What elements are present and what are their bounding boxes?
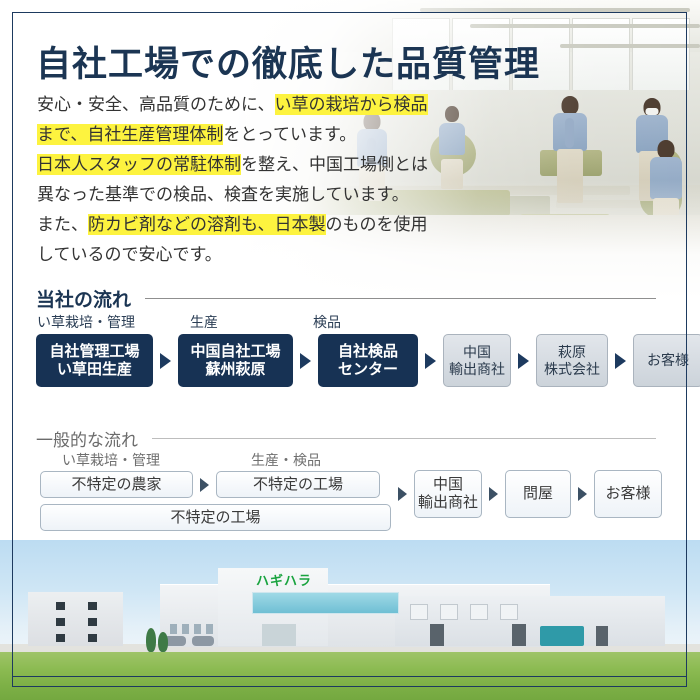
text-segment: しているので安心です。 bbox=[37, 245, 222, 264]
company-flow-heading: 当社の流れ bbox=[36, 285, 656, 312]
highlighted-text: まで、自社生産管理体制 bbox=[37, 124, 223, 145]
step-line: 輸出商社 bbox=[449, 361, 505, 378]
step-line: お客様 bbox=[605, 485, 650, 503]
step-line: 中国自社工場 bbox=[190, 343, 280, 361]
highlighted-text: 防カビ剤などの溶剤も、日本製 bbox=[88, 214, 326, 235]
highlighted-text: い草の栽培から検品 bbox=[275, 94, 428, 115]
general-flow-bottom-row: 不特定の工場 bbox=[40, 504, 391, 531]
factory-building-photo: ハギハラ bbox=[0, 540, 700, 700]
paragraph-line: 異なった基準での検品、検査を実施しています。 bbox=[37, 180, 507, 210]
caption-general-cultivation: い草栽培・管理 bbox=[62, 450, 160, 470]
step-line: 自社検品 bbox=[338, 343, 398, 361]
flow-step-customer[interactable]: お客様 bbox=[633, 334, 700, 387]
arrow-right-icon bbox=[300, 353, 311, 369]
general-step-customer[interactable]: お客様 bbox=[594, 470, 662, 518]
flow-step-own-factory[interactable]: 自社管理工場 い草田生産 bbox=[36, 334, 153, 387]
photo-frame-border bbox=[12, 540, 687, 677]
step-line: 萩原 bbox=[558, 344, 586, 361]
general-flow-heading: 一般的な流れ bbox=[36, 426, 656, 451]
caption-general-production: 生産・検品 bbox=[251, 450, 321, 470]
general-flow-heading-label: 一般的な流れ bbox=[36, 426, 138, 451]
step-line: 中国 bbox=[463, 344, 491, 361]
general-flow-tail-row: 中国 輸出商社 問屋 お客様 bbox=[398, 470, 662, 518]
general-flow-top-row: 不特定の農家 不特定の工場 bbox=[40, 471, 380, 498]
paragraph-line: まで、自社生産管理体制をとっています。 bbox=[37, 120, 507, 150]
step-line: 問屋 bbox=[523, 485, 553, 503]
heading-rule bbox=[145, 298, 656, 299]
step-line: 株式会社 bbox=[544, 361, 600, 378]
text-segment: 異なった基準での検品、検査を実施しています。 bbox=[37, 185, 409, 204]
step-line: 輸出商社 bbox=[418, 494, 478, 512]
paragraph-line: 安心・安全、高品質のために、い草の栽培から検品 bbox=[37, 90, 507, 120]
arrow-right-icon bbox=[518, 353, 529, 369]
step-line: 蘇州萩原 bbox=[205, 361, 265, 379]
caption-inspection: 検品 bbox=[313, 312, 341, 332]
general-step-unknown-farm[interactable]: 不特定の農家 bbox=[40, 471, 193, 498]
text-segment: を整え、中国工場側とは bbox=[241, 155, 428, 174]
general-step-china-exporter[interactable]: 中国 輸出商社 bbox=[414, 470, 482, 518]
arrow-right-icon bbox=[200, 478, 209, 492]
paragraph-line: また、防カビ剤などの溶剤も、日本製のものを使用 bbox=[37, 210, 507, 240]
caption-production: 生産 bbox=[190, 312, 218, 332]
text-segment: 安心・安全、高品質のために、 bbox=[37, 95, 275, 114]
general-step-unknown-factory[interactable]: 不特定の工場 bbox=[216, 471, 380, 498]
step-line: 不特定の工場 bbox=[170, 509, 260, 527]
paragraph-line: 日本人スタッフの常駐体制を整え、中国工場側とは bbox=[37, 150, 507, 180]
text-segment: のものを使用 bbox=[326, 215, 428, 234]
step-line: い草田生産 bbox=[57, 361, 132, 379]
step-line: 不特定の工場 bbox=[253, 476, 343, 494]
page-title: 自社工場での徹底した品質管理 bbox=[36, 36, 540, 87]
flow-step-china-exporter[interactable]: 中国 輸出商社 bbox=[443, 334, 511, 387]
arrow-right-icon bbox=[489, 487, 498, 501]
general-step-unknown-factory-wide[interactable]: 不特定の工場 bbox=[40, 504, 391, 531]
text-segment: また、 bbox=[37, 215, 88, 234]
step-line: 自社管理工場 bbox=[49, 343, 139, 361]
paragraph-line: しているので安心です。 bbox=[37, 240, 507, 270]
flow-step-china-factory[interactable]: 中国自社工場 蘇州萩原 bbox=[178, 334, 293, 387]
step-line: 不特定の農家 bbox=[71, 476, 161, 494]
arrow-right-icon bbox=[398, 487, 407, 501]
step-line: センター bbox=[338, 361, 398, 379]
heading-rule bbox=[152, 438, 656, 439]
general-step-wholesaler[interactable]: 問屋 bbox=[505, 470, 571, 518]
text-segment: をとっています。 bbox=[223, 125, 356, 144]
flow-step-inspection-center[interactable]: 自社検品 センター bbox=[318, 334, 418, 387]
step-line: お客様 bbox=[647, 352, 689, 369]
arrow-right-icon bbox=[615, 353, 626, 369]
arrow-right-icon bbox=[160, 353, 171, 369]
company-flow-heading-label: 当社の流れ bbox=[36, 285, 131, 312]
arrow-right-icon bbox=[578, 487, 587, 501]
highlighted-text: 日本人スタッフの常駐体制 bbox=[37, 154, 241, 175]
step-line: 中国 bbox=[433, 476, 463, 494]
caption-cultivation: い草栽培・管理 bbox=[37, 312, 135, 332]
infographic-page: 自社工場での徹底した品質管理 安心・安全、高品質のために、い草の栽培から検品 ま… bbox=[0, 0, 700, 700]
intro-paragraph: 安心・安全、高品質のために、い草の栽培から検品 まで、自社生産管理体制をとってい… bbox=[37, 90, 507, 270]
flow-step-hagihara[interactable]: 萩原 株式会社 bbox=[536, 334, 608, 387]
arrow-right-icon bbox=[425, 353, 436, 369]
company-flow-row: 自社管理工場 い草田生産 中国自社工場 蘇州萩原 自社検品 センター 中国 輸出… bbox=[36, 334, 700, 387]
